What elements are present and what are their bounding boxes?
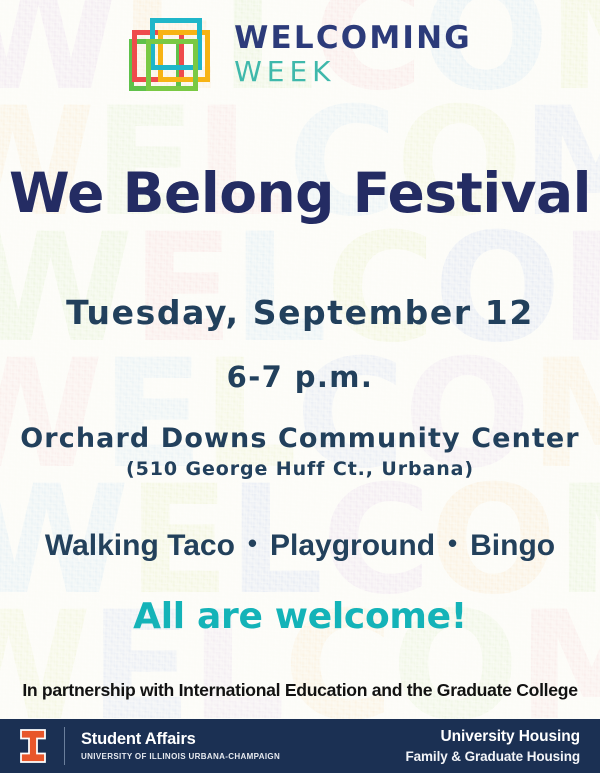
activity-separator-dot: • bbox=[248, 530, 257, 556]
activity-item: Walking Taco bbox=[45, 529, 235, 562]
welcoming-week-squares-icon bbox=[128, 17, 220, 89]
square-green-inner-icon bbox=[146, 39, 198, 91]
welcoming-week-logo: WELCOMING WEEK bbox=[0, 14, 600, 92]
footer-left-group: Student Affairs UNIVERSITY OF ILLINOIS U… bbox=[0, 727, 280, 765]
event-activities: Walking Taco•Playground•Bingo bbox=[0, 530, 600, 561]
student-affairs-title: Student Affairs bbox=[81, 731, 280, 748]
activity-item: Playground bbox=[270, 529, 435, 562]
logo-word-week: WEEK bbox=[234, 58, 472, 86]
activity-separator-dot: • bbox=[448, 530, 457, 556]
footer-left-text: Student Affairs UNIVERSITY OF ILLINOIS U… bbox=[81, 731, 280, 761]
footer-divider bbox=[64, 727, 65, 765]
university-housing-title: University Housing bbox=[405, 729, 580, 745]
welcome-message: All are welcome! bbox=[0, 599, 600, 635]
poster-content: WELCOMING WEEK We Belong Festival Tuesda… bbox=[0, 0, 600, 773]
activity-item: Bingo bbox=[470, 529, 555, 562]
family-graduate-housing-subtitle: Family & Graduate Housing bbox=[405, 750, 580, 764]
page-title: We Belong Festival bbox=[0, 166, 600, 221]
footer-right-group: University Housing Family & Graduate Hou… bbox=[405, 729, 600, 764]
illinois-block-i-logo-icon bbox=[18, 728, 48, 764]
poster: WELCOMEWELCOMEWELCOMEWELCOMEWELCOMEWELCO… bbox=[0, 0, 600, 773]
event-time: 6-7 p.m. bbox=[0, 363, 600, 392]
logo-word-welcoming: WELCOMING bbox=[234, 23, 472, 54]
welcoming-week-wordmark: WELCOMING WEEK bbox=[234, 21, 472, 86]
event-venue-address: (510 George Huff Ct., Urbana) bbox=[0, 460, 600, 479]
footer-bar: Student Affairs UNIVERSITY OF ILLINOIS U… bbox=[0, 719, 600, 773]
partnership-note: In partnership with International Educat… bbox=[0, 682, 600, 700]
university-name-subtitle: UNIVERSITY OF ILLINOIS URBANA-CHAMPAIGN bbox=[81, 753, 280, 761]
event-date: Tuesday, September 12 bbox=[0, 296, 600, 329]
event-venue: Orchard Downs Community Center bbox=[0, 425, 600, 452]
